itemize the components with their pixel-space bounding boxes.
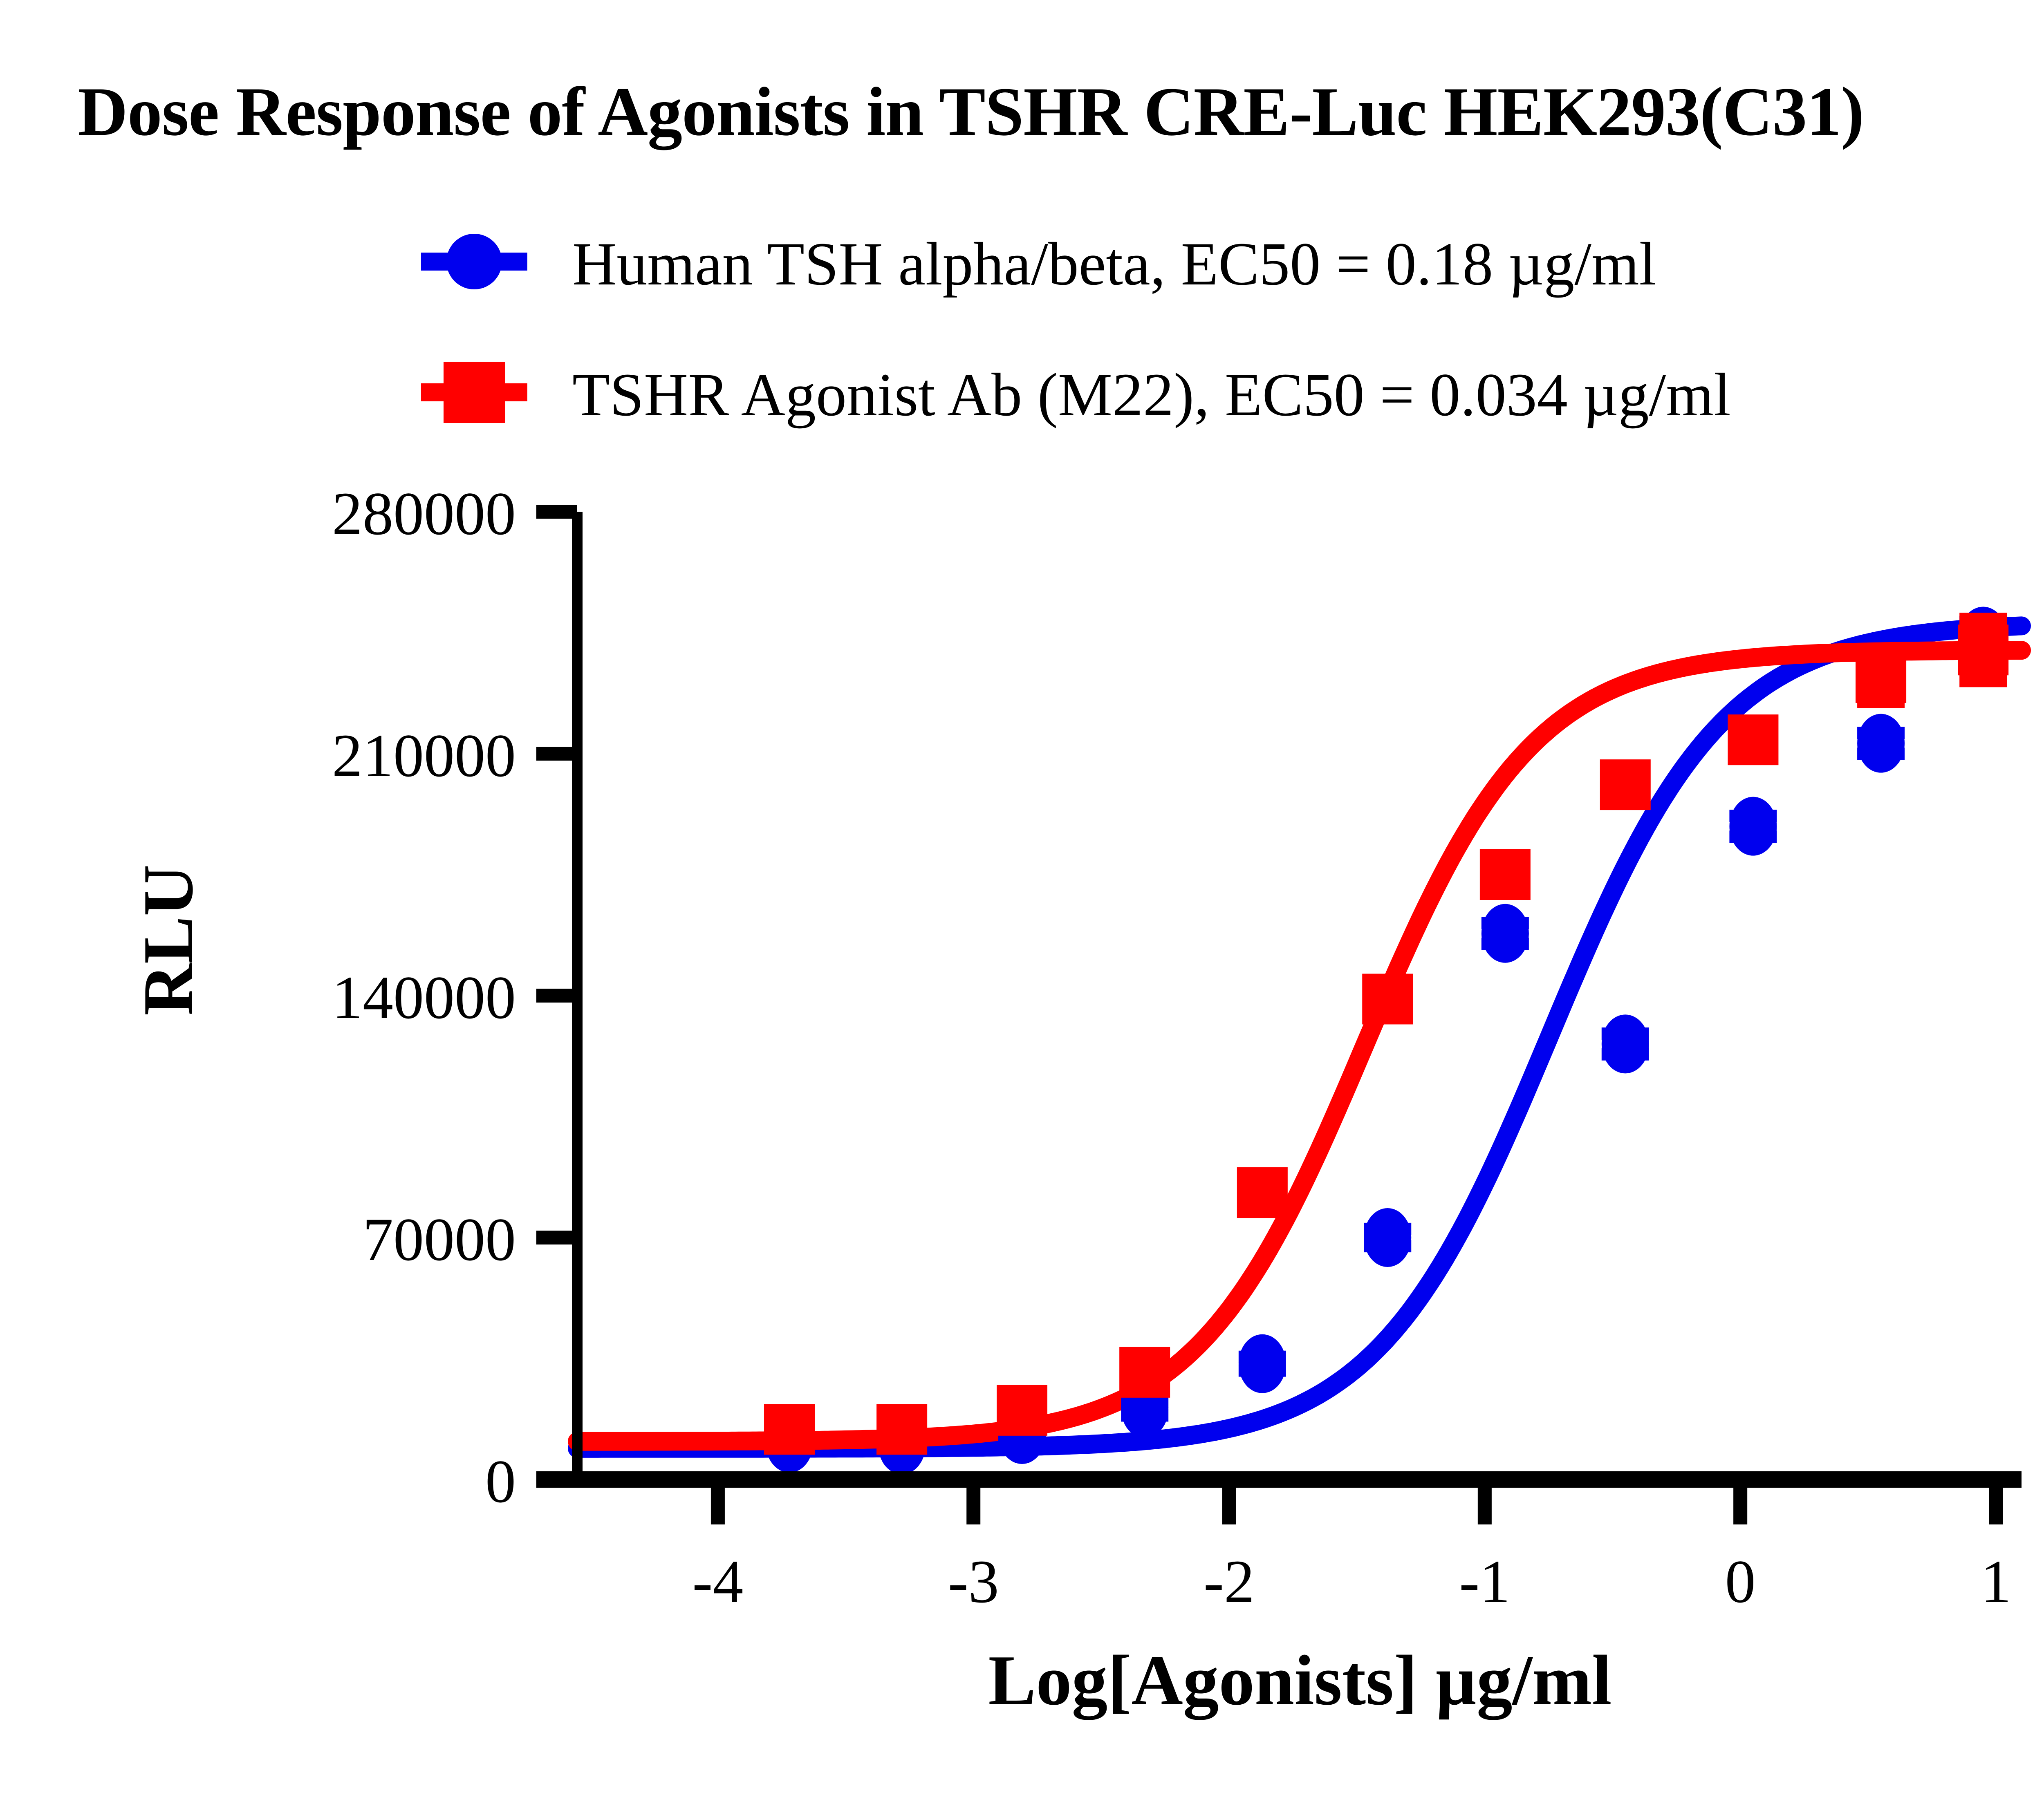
y-tick-label: 210000 <box>332 722 516 790</box>
data-point-marker-circle <box>1481 904 1529 963</box>
data-point-marker-circle <box>1602 1014 1649 1073</box>
y-tick-label: 0 <box>485 1448 516 1515</box>
dose-response-chart: Dose Response of Agonists in TSHR CRE-Lu… <box>0 0 2044 1813</box>
legend-entry-0[interactable]: Human TSH alpha/beta, EC50 = 0.18 µg/ml <box>421 230 1656 298</box>
x-tick-label: -3 <box>948 1548 999 1616</box>
legend-label-0: Human TSH alpha/beta, EC50 = 0.18 µg/ml <box>572 230 1656 298</box>
legend-marker-circle-icon <box>446 234 502 289</box>
data-point-marker-square <box>997 1385 1047 1436</box>
data-point-marker-circle <box>1239 1334 1286 1393</box>
data-point-marker-circle <box>1729 797 1777 856</box>
legend-entry-1[interactable]: TSHR Agonist Ab (M22), EC50 = 0.034 µg/m… <box>421 361 1731 429</box>
data-point-marker-square <box>1958 624 2008 675</box>
x-tick-label: -4 <box>692 1548 743 1616</box>
legend-label-1: TSHR Agonist Ab (M22), EC50 = 0.034 µg/m… <box>572 361 1731 429</box>
data-point-marker-square <box>764 1404 815 1455</box>
data-point-marker-square <box>1856 652 1906 703</box>
x-tick-label: -2 <box>1204 1548 1255 1616</box>
chart-title: Dose Response of Agonists in TSHR CRE-Lu… <box>78 73 1864 150</box>
x-axis-title: Log[Agonists] µg/ml <box>988 1641 1611 1720</box>
data-point-marker-square <box>876 1404 927 1455</box>
data-point-marker-square <box>1480 849 1531 900</box>
y-tick-label: 70000 <box>363 1206 516 1274</box>
data-point-marker-square <box>1362 974 1413 1024</box>
data-point-marker-square <box>1237 1167 1288 1218</box>
data-point-marker-square <box>1728 714 1778 765</box>
y-tick-label: 140000 <box>332 964 516 1032</box>
x-tick-label: -1 <box>1459 1548 1510 1616</box>
data-point-marker-circle <box>1857 714 1905 773</box>
data-point-marker-square <box>1600 759 1651 810</box>
figure-root: Dose Response of Agonists in TSHR CRE-Lu… <box>0 0 2044 1813</box>
x-tick-label: 1 <box>1981 1548 2011 1616</box>
legend-marker-square-icon <box>444 362 505 423</box>
data-point-marker-square <box>1119 1347 1170 1398</box>
data-point-marker-circle <box>1364 1208 1411 1267</box>
y-tick-label: 280000 <box>332 480 516 548</box>
x-tick-label: 0 <box>1725 1548 1756 1616</box>
y-axis-title: RLU <box>128 864 208 1015</box>
